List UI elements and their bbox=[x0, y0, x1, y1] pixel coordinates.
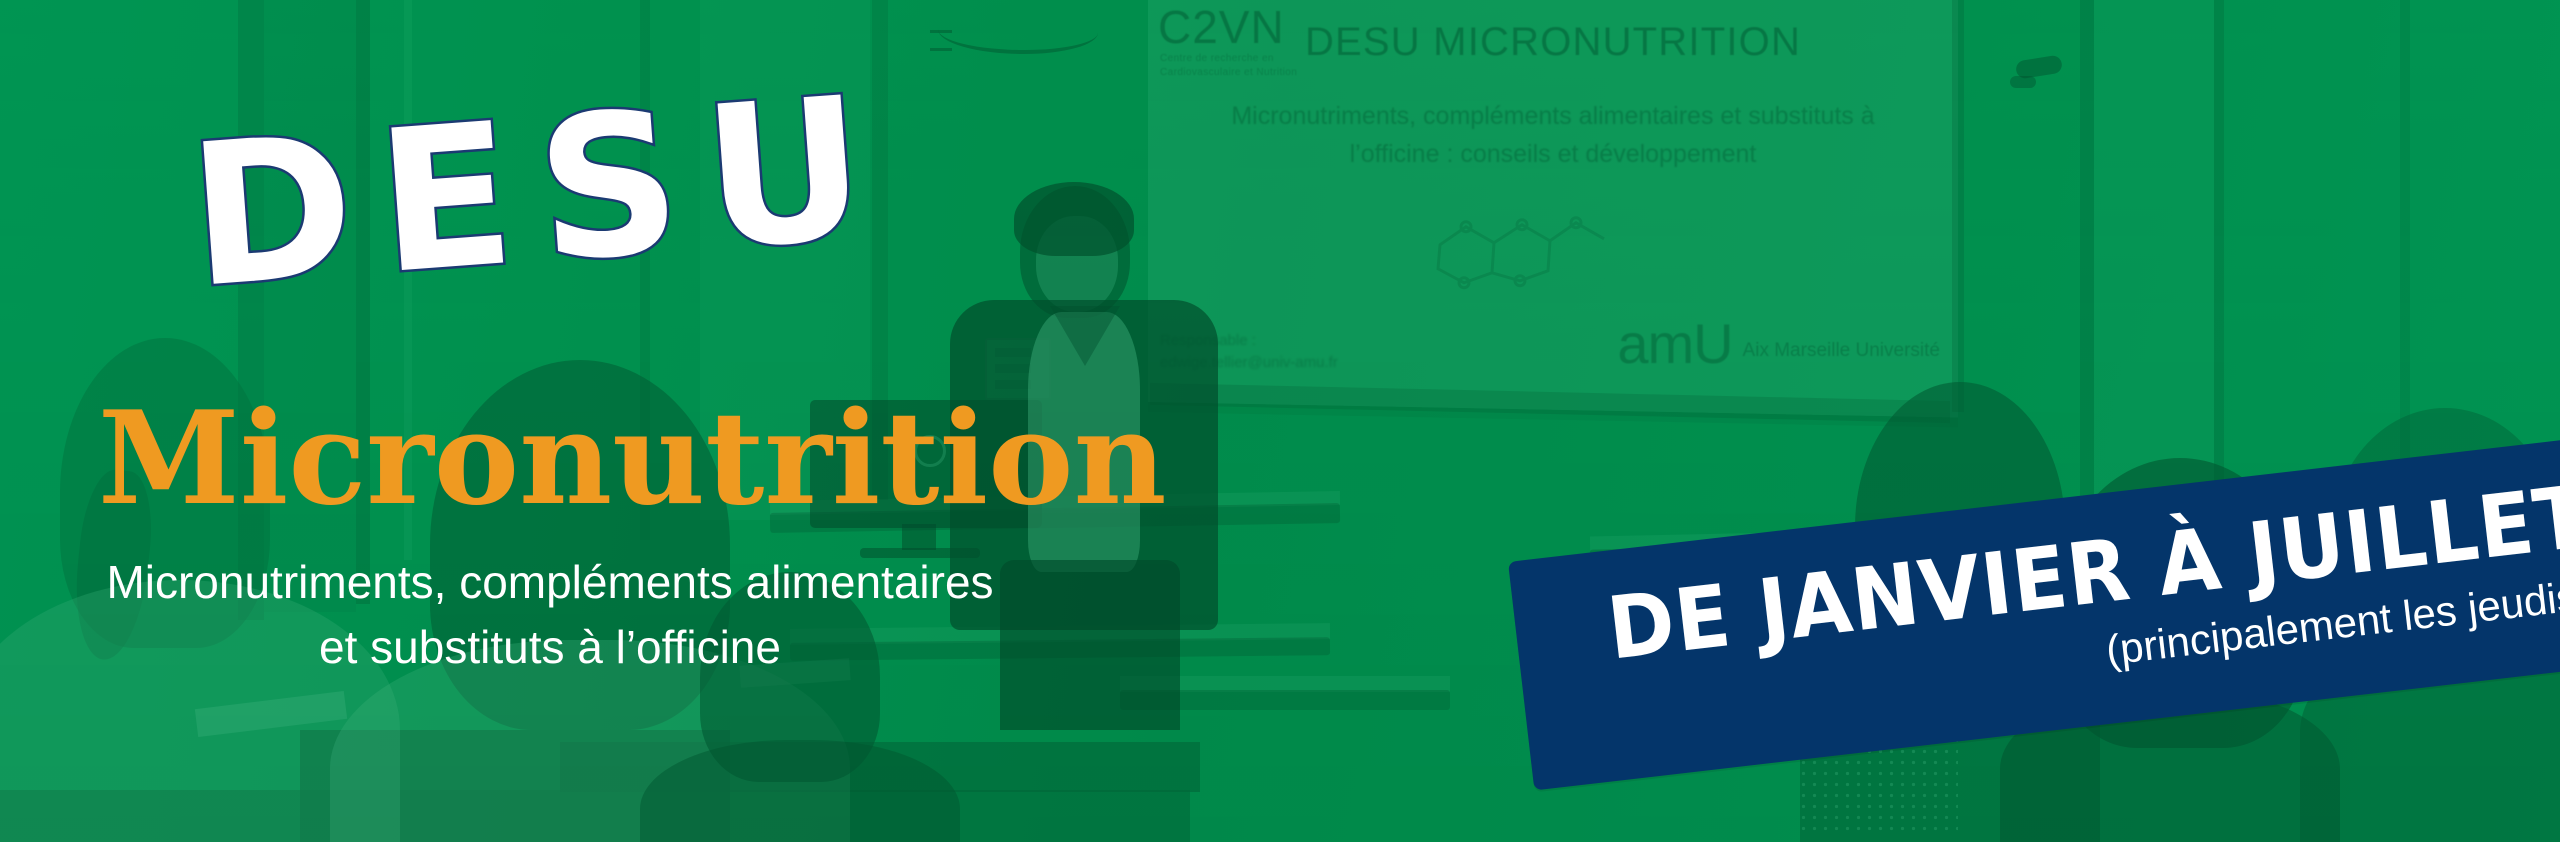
date-badge-main-text: DE JANVIER À JUILLET bbox=[1604, 474, 2560, 673]
page-title-desu: DESU bbox=[184, 69, 897, 316]
banner-subtitle-line-1: Micronutriments, compléments alimentaire… bbox=[0, 550, 1100, 615]
banner-text-overlay: DESU Micronutrition Micronutriments, com… bbox=[0, 0, 2560, 842]
banner-subtitle: Micronutriments, compléments alimentaire… bbox=[0, 550, 1100, 681]
desu-micronutrition-banner: C2VN Centre de recherche en Cardiovascul… bbox=[0, 0, 2560, 842]
banner-subtitle-line-2: et substituts à l’officine bbox=[0, 615, 1100, 680]
date-badge: DE JANVIER À JUILLET (principalement les… bbox=[1508, 433, 2560, 790]
program-title-micronutrition: Micronutrition bbox=[98, 395, 1167, 523]
